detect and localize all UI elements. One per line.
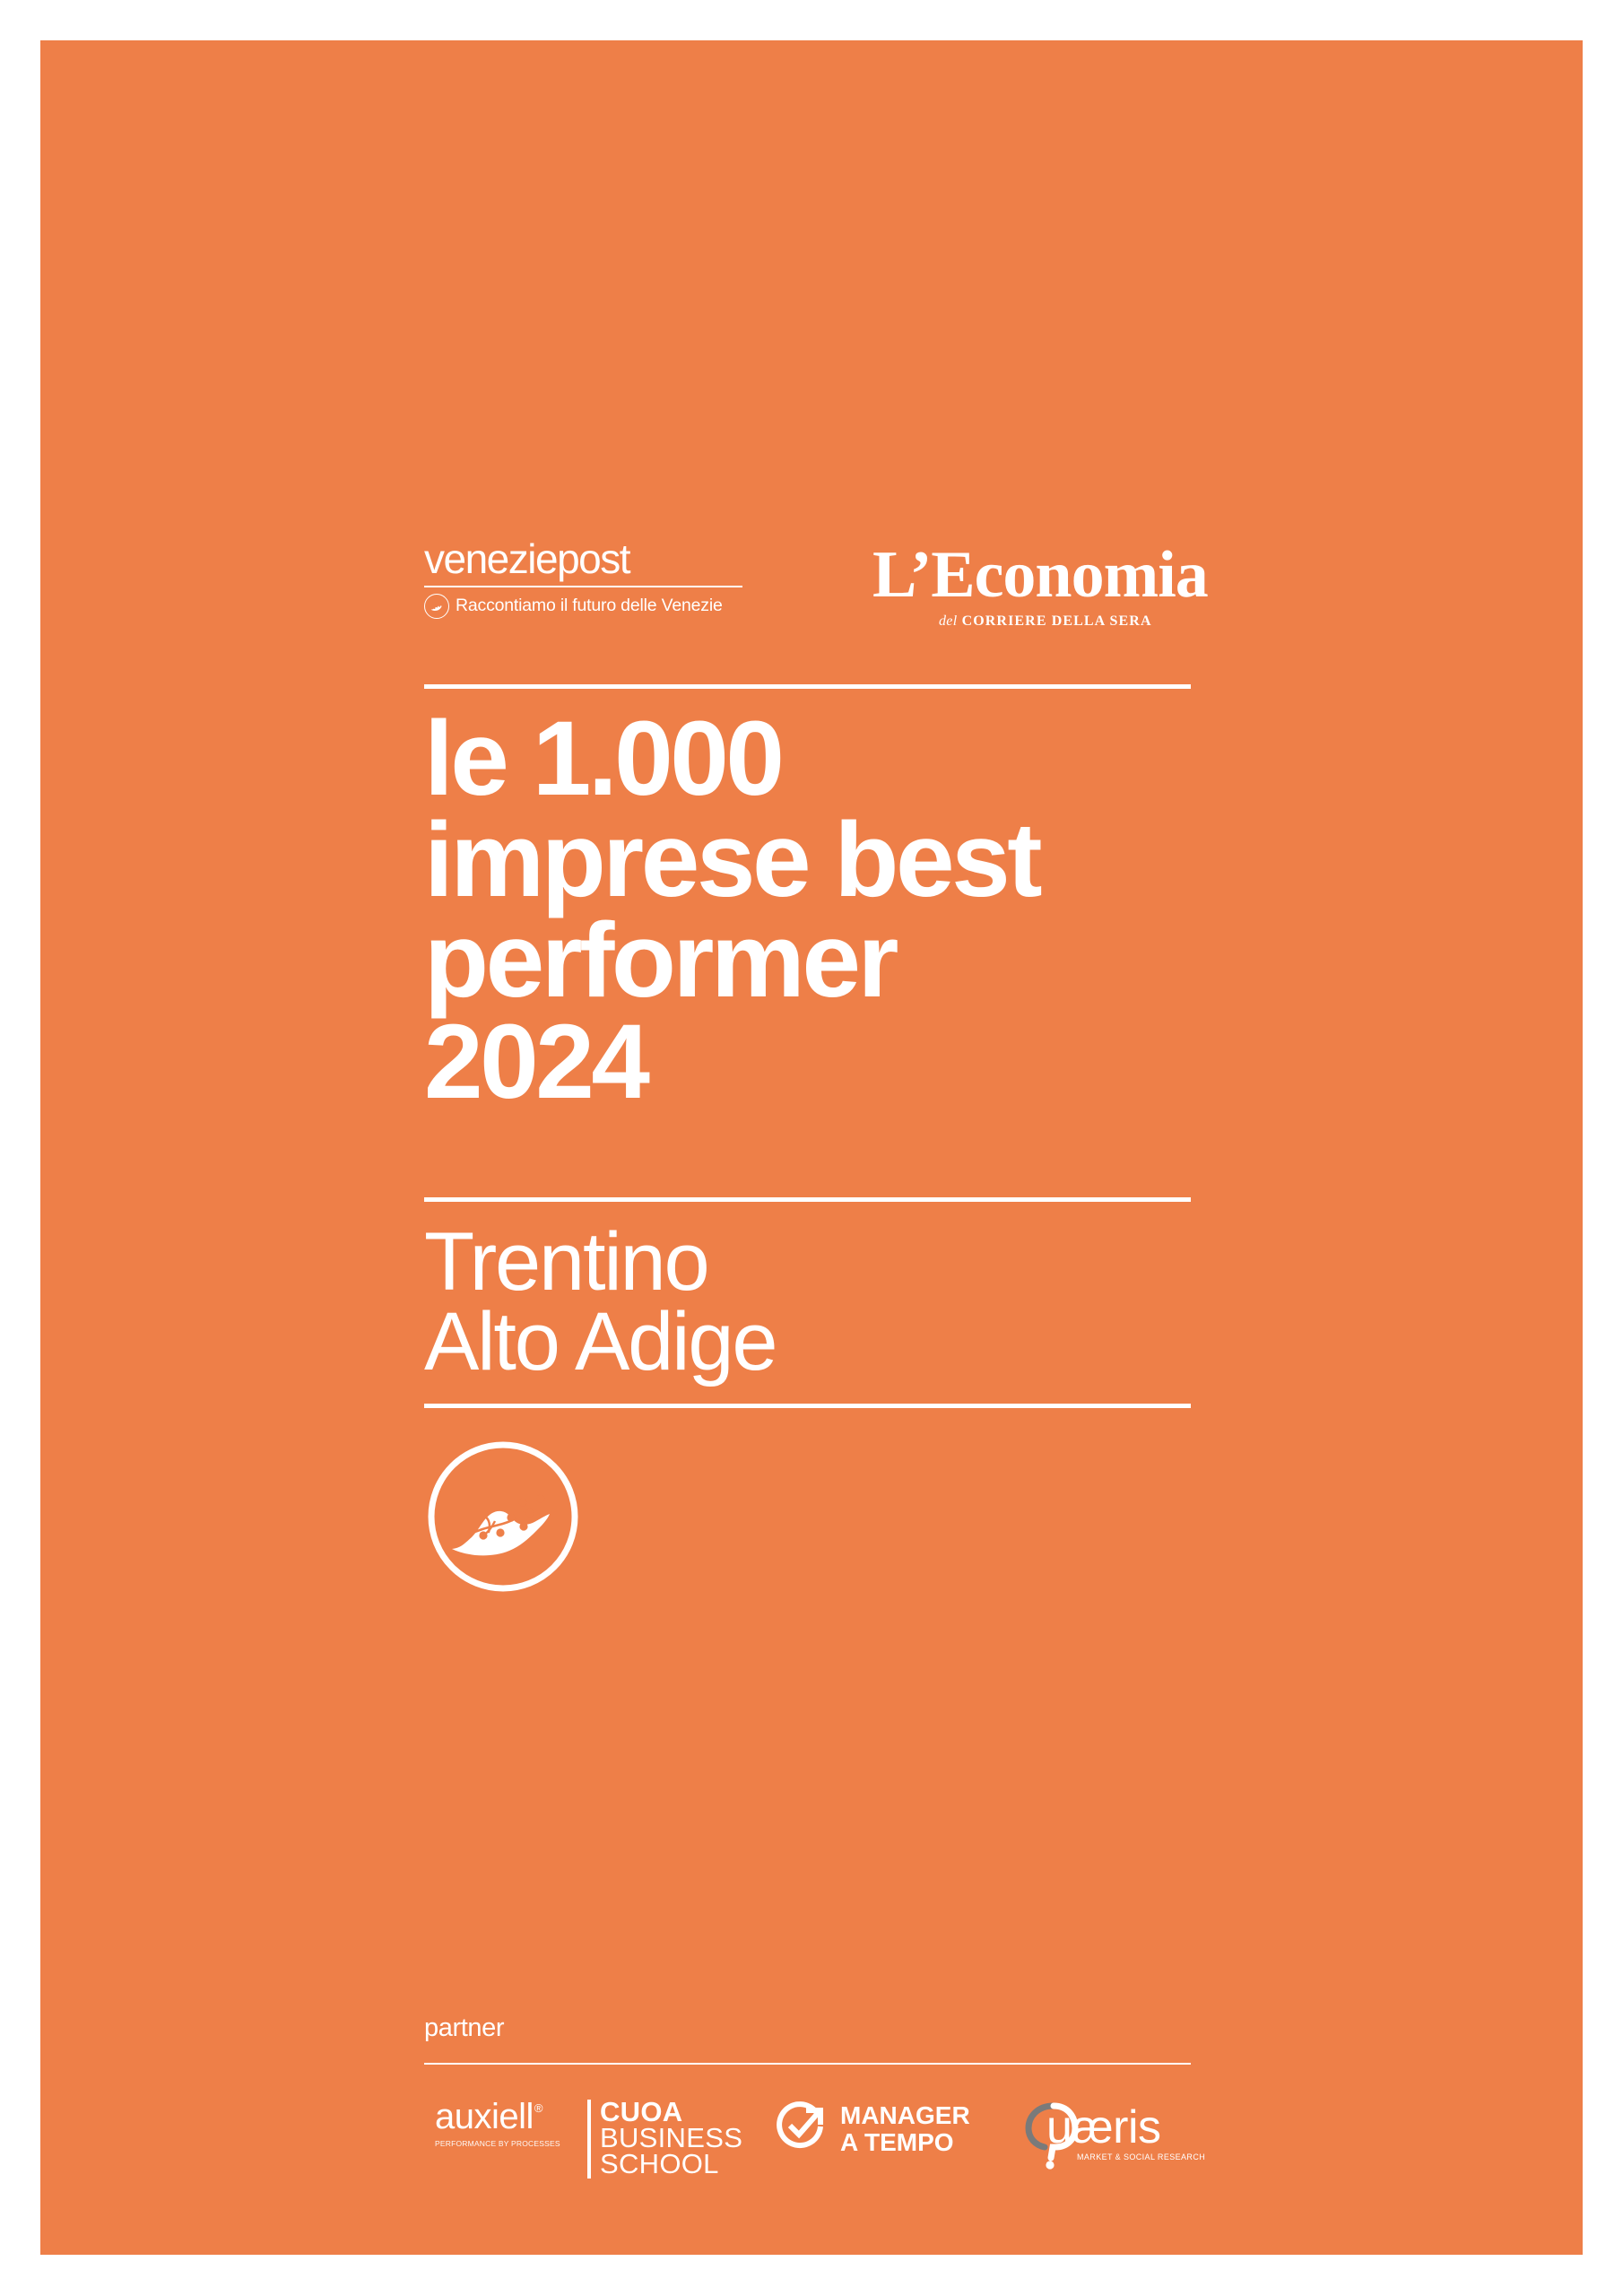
partner-label: partner <box>424 2013 1191 2043</box>
leconomia-logo: L’Economia del CORRIERE DELLA SERA <box>872 542 1195 630</box>
cuoa-line-1: CUOA <box>600 2099 742 2125</box>
partner-logo-quaeris[interactable]: uæris MARKET & SOCIAL RESEARCH <box>1023 2099 1220 2176</box>
manager-line-1: MANAGER <box>840 2102 970 2128</box>
partner-logo-manager-a-tempo[interactable]: MANAGER A TEMPO <box>774 2099 980 2159</box>
leconomia-subtitle-prefix: del <box>939 613 957 629</box>
veneziepost-word-post: post <box>557 535 629 582</box>
partner-logo-auxiell[interactable]: auxiell® PERFORMANCE BY PROCESSES <box>435 2099 596 2148</box>
page-title-line-3: performer <box>424 910 1191 1012</box>
check-circle-arrow-icon <box>774 2099 829 2159</box>
page-title-line-1: le 1.000 <box>424 709 1191 810</box>
manager-line-2: A TEMPO <box>840 2129 970 2155</box>
page-title-line-4: 2024 <box>424 1012 1191 1113</box>
veneziepost-divider <box>424 586 742 587</box>
auxiell-wordmark: auxiell® <box>435 2099 542 2135</box>
region-subtitle-line-2: Alto Adige <box>424 1302 1191 1382</box>
veneziepost-tagline: Raccontiamo il futuro delle Venezie <box>456 596 723 616</box>
page-title-line-2: imprese best <box>424 810 1191 911</box>
cuoa-vertical-bar-icon <box>587 2100 591 2179</box>
partner-divider <box>424 2063 1191 2065</box>
page-title: le 1.000 imprese best performer 2024 <box>424 709 1191 1113</box>
region-subtitle: Trentino Alto Adige <box>424 1222 1191 1382</box>
leconomia-wordmark: L’Economia <box>872 542 1195 608</box>
auxiell-tagline: PERFORMANCE BY PROCESSES <box>435 2139 596 2148</box>
veneziepost-word-venezie: venezie <box>424 535 557 582</box>
title-top-divider <box>424 684 1191 689</box>
veneziepost-logo: veneziepost Raccontiamo il futuro delle … <box>424 538 747 619</box>
cuoa-wordmark: CUOA BUSINESS SCHOOL <box>600 2099 742 2179</box>
auxiell-registered-mark: ® <box>534 2101 542 2115</box>
quaeris-tagline: MARKET & SOCIAL RESEARCH <box>1077 2152 1205 2161</box>
partner-logo-cuoa-business-school[interactable]: CUOA BUSINESS SCHOOL <box>587 2099 744 2179</box>
subtitle-bottom-divider <box>424 1404 1191 1408</box>
leconomia-subtitle-main: CORRIERE DELLA SERA <box>962 613 1152 629</box>
region-subtitle-line-1: Trentino <box>424 1222 1191 1302</box>
leconomia-subtitle: del CORRIERE DELLA SERA <box>939 613 1195 630</box>
cuoa-line-3: SCHOOL <box>600 2151 742 2177</box>
auxiell-word: auxiell <box>435 2097 534 2136</box>
manager-a-tempo-wordmark: MANAGER A TEMPO <box>840 2102 970 2154</box>
cuoa-line-2: BUSINESS <box>600 2125 742 2151</box>
leaf-badge-icon <box>424 594 449 619</box>
quaeris-wordmark: uæris <box>1046 2104 1161 2151</box>
cover-page: veneziepost Raccontiamo il futuro delle … <box>40 40 1583 2255</box>
veneziepost-wordmark: veneziepost <box>424 538 747 579</box>
partner-logos-row: auxiell® PERFORMANCE BY PROCESSES CUOA B… <box>424 2099 1191 2206</box>
leaf-circle-emblem-icon <box>424 1438 582 1596</box>
title-bottom-divider <box>424 1197 1191 1202</box>
publisher-logos-row: veneziepost Raccontiamo il futuro delle … <box>424 538 1191 646</box>
veneziepost-tagline-row: Raccontiamo il futuro delle Venezie <box>424 594 747 619</box>
